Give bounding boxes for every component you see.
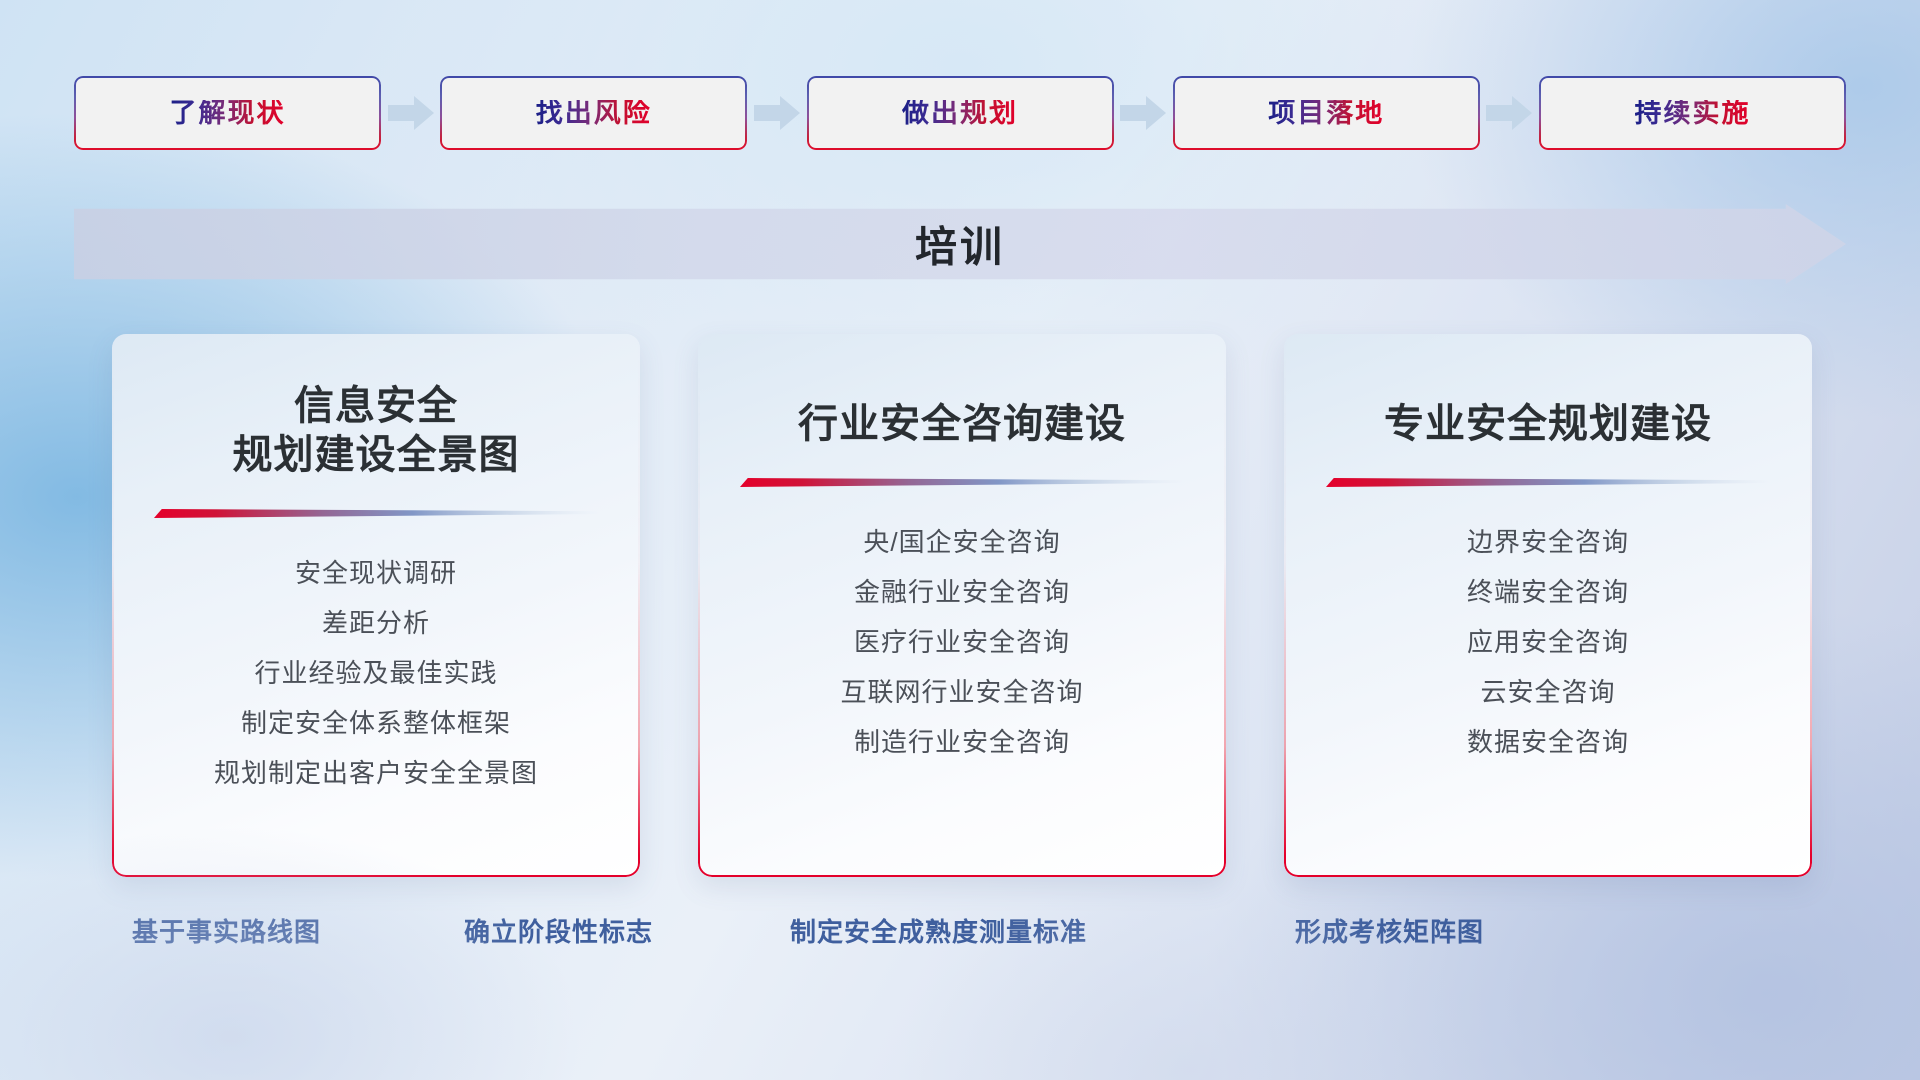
flow-step-1[interactable]: 了解现状 [74,76,381,150]
list-item: 央/国企安全咨询 [724,517,1200,567]
list-item: 行业经验及最佳实践 [138,648,614,698]
card-title: 信息安全 规划建设全景图 [233,382,520,480]
card-industry-security-consulting[interactable]: 行业安全咨询建设 央/国企安全咨询 金融行业安全咨询 医 [698,334,1226,877]
caption-item: 制定安全成熟度测量标准 [790,912,1087,949]
training-banner: 培训 [74,204,1846,284]
flow-step-4[interactable]: 项目落地 [1173,76,1480,150]
arrow-right-icon [1120,96,1166,130]
card-divider [1324,475,1771,489]
list-item: 规划制定出客户安全全景图 [138,748,614,798]
flow-arrow-2 [747,96,806,130]
flow-step-label: 持续实施 [1635,100,1751,127]
flow-step-label: 了解现状 [170,100,286,127]
slide-canvas: 了解现状 找出风险 做出规划 项目落地 [0,0,1920,1080]
flow-step-5[interactable]: 持续实施 [1539,76,1846,150]
card-divider [738,475,1185,489]
list-item: 金融行业安全咨询 [724,567,1200,617]
list-item: 差距分析 [138,598,614,648]
flow-arrow-4 [1480,96,1539,130]
list-item: 终端安全咨询 [1310,567,1786,617]
list-item: 制造行业安全咨询 [724,717,1200,767]
card-title: 专业安全规划建设 [1384,400,1712,449]
flow-step-label: 找出风险 [536,100,652,127]
card-item-list: 央/国企安全咨询 金融行业安全咨询 医疗行业安全咨询 互联网行业安全咨询 制造行… [724,517,1200,767]
card-information-security-blueprint[interactable]: 信息安全 规划建设全景图 安全现状调研 差距分析 行业经 [112,334,640,877]
list-item: 云安全咨询 [1310,667,1786,717]
caption-item: 形成考核矩阵图 [1295,912,1484,949]
flow-step-3[interactable]: 做出规划 [807,76,1114,150]
flow-step-label: 做出规划 [902,100,1018,127]
card-title: 行业安全咨询建设 [798,400,1126,449]
list-item: 医疗行业安全咨询 [724,617,1200,667]
flow-step-2[interactable]: 找出风险 [440,76,747,150]
card-item-list: 安全现状调研 差距分析 行业经验及最佳实践 制定安全体系整体框架 规划制定出客户… [138,548,614,798]
arrow-right-icon [754,96,800,130]
banner-title: 培训 [915,214,1005,275]
list-item: 边界安全咨询 [1310,517,1786,567]
list-item: 制定安全体系整体框架 [138,698,614,748]
arrow-right-icon [1486,96,1532,130]
list-item: 数据安全咨询 [1310,717,1786,767]
caption-item: 基于事实路线图 [132,912,321,949]
card-divider [152,506,599,520]
process-flow: 了解现状 找出风险 做出规划 项目落地 [74,76,1846,150]
caption-item: 确立阶段性标志 [464,912,653,949]
card-item-list: 边界安全咨询 终端安全咨询 应用安全咨询 云安全咨询 数据安全咨询 [1310,517,1786,767]
caption-row: 基于事实路线图 确立阶段性标志 制定安全成熟度测量标准 形成考核矩阵图 [0,912,1920,958]
list-item: 安全现状调研 [138,548,614,598]
flow-step-label: 项目落地 [1268,100,1384,127]
list-item: 互联网行业安全咨询 [724,667,1200,717]
arrow-right-icon [388,96,434,130]
card-professional-security-planning[interactable]: 专业安全规划建设 边界安全咨询 终端安全咨询 应用安全咨 [1284,334,1812,877]
card-group: 信息安全 规划建设全景图 安全现状调研 差距分析 行业经 [112,334,1812,877]
list-item: 应用安全咨询 [1310,617,1786,667]
flow-arrow-1 [381,96,440,130]
flow-arrow-3 [1114,96,1173,130]
